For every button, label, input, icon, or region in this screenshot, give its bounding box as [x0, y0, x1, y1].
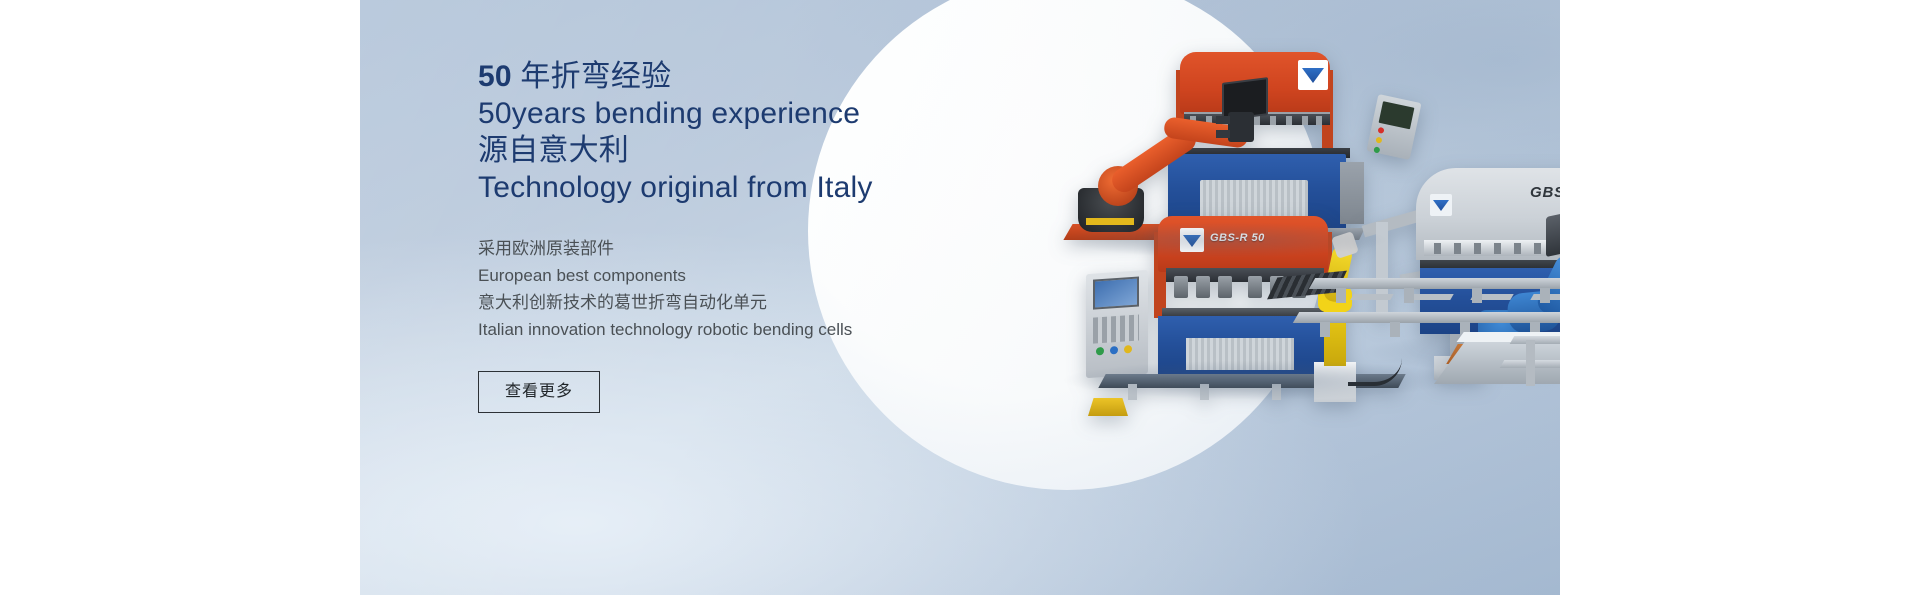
machine-left-console-screen	[1093, 276, 1139, 309]
machine-left-operator-console	[1086, 270, 1148, 378]
headline-line-1: 50 年折弯经验	[478, 58, 1038, 95]
subtext-block: 采用欧洲原装部件 European best components 意大利创新技…	[478, 235, 1038, 343]
subtext-line-1: 采用欧洲原装部件	[478, 235, 1038, 262]
output-frame-structure	[1512, 330, 1560, 390]
subtext-line-2: European best components	[478, 262, 1038, 289]
ground-shadow-left	[1060, 360, 1460, 400]
lag-logo-icon	[1430, 194, 1452, 216]
machine-top-side-cabinet	[1340, 162, 1364, 224]
hero-banner: GBS-R 50	[360, 0, 1560, 595]
lag-logo-icon	[1298, 60, 1328, 90]
rail-back	[1293, 312, 1560, 323]
machine-right-model-label: GBS-R 100	[1530, 184, 1560, 201]
ground-shadow-top	[1060, 222, 1390, 258]
headline-block: 50 年折弯经验 50years bending experience 源自意大…	[478, 0, 1038, 206]
banner-stage: GBS-R 50	[0, 0, 1920, 595]
subtext-line-4: Italian innovation technology robotic be…	[478, 316, 1038, 343]
headline-line-3: 源自意大利	[478, 132, 1038, 169]
headline-line-2: 50years bending experience	[478, 95, 1038, 132]
rail-front	[1309, 278, 1560, 289]
view-more-button[interactable]: 查看更多	[478, 371, 600, 413]
machine-top-control-pendant	[1366, 94, 1421, 160]
machine-left-console-keypad	[1093, 314, 1139, 343]
machine-left-wheel-chock	[1088, 398, 1128, 416]
machine-top-press-brake	[1072, 52, 1402, 242]
robot-arm-orange-gripper	[1228, 112, 1254, 142]
subtext-line-3: 意大利创新技术的葛世折弯自动化单元	[478, 289, 1038, 316]
headline-years-number: 50	[478, 60, 512, 93]
headline-line-4: Technology original from Italy	[478, 169, 1038, 206]
banner-content: 50 年折弯经验 50years bending experience 源自意大…	[478, 0, 1038, 595]
headline-line-1-text: 年折弯经验	[512, 60, 672, 93]
